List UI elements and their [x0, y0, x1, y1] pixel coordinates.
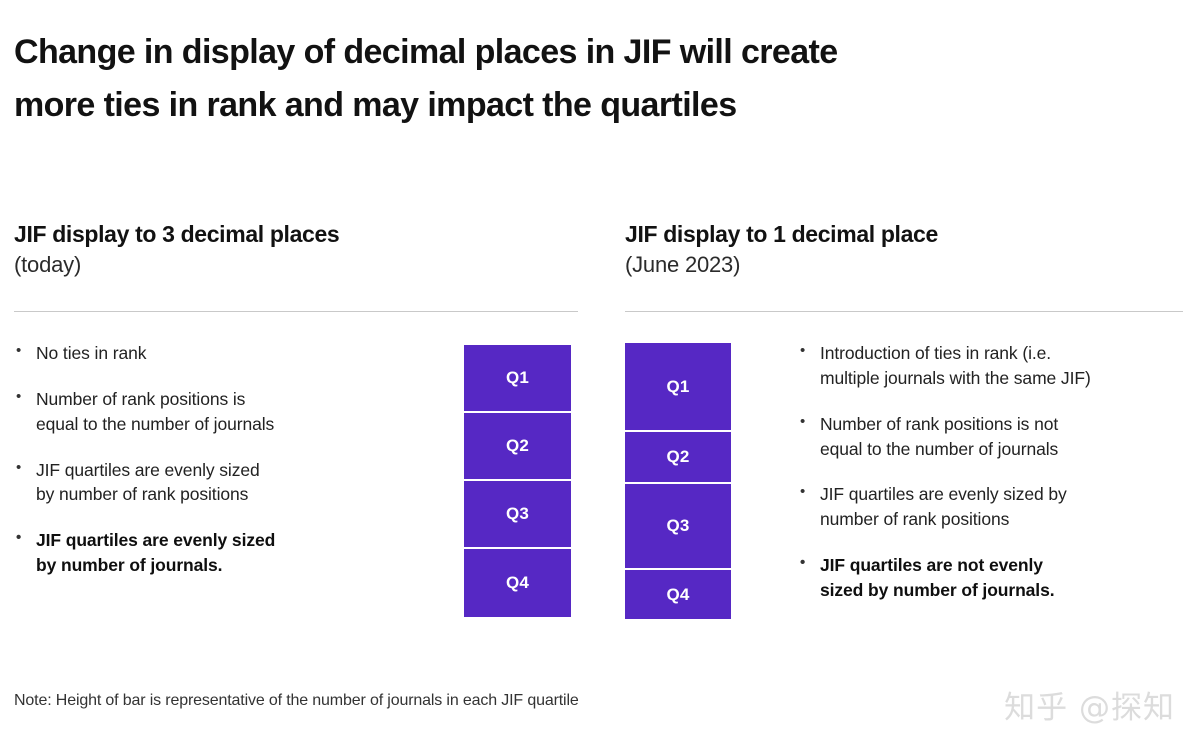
- page-title-line-2: more ties in rank and may impact the qua…: [14, 79, 1024, 132]
- list-item-line: Introduction of ties in rank (i.e.: [820, 341, 1183, 366]
- quartile-segment-q4: Q4: [464, 549, 571, 617]
- quartile-segment-label: Q2: [666, 447, 689, 467]
- list-item: JIF quartiles are evenly sizedby number …: [14, 528, 434, 578]
- left-column-heading: JIF display to 3 decimal places: [14, 220, 578, 249]
- list-item-line: by number of rank positions: [36, 482, 434, 507]
- right-column-divider: [625, 311, 1183, 312]
- list-item-line: multiple journals with the same JIF): [820, 366, 1183, 391]
- quartile-segment-q2: Q2: [625, 432, 731, 484]
- quartile-bar-1-decimal: Q1Q2Q3Q4: [625, 343, 731, 619]
- quartile-segment-label: Q1: [666, 377, 689, 397]
- list-item-line: JIF quartiles are evenly sized: [36, 528, 434, 553]
- quartile-segment-q1: Q1: [625, 343, 731, 432]
- list-item: JIF quartiles are evenly sized bynumber …: [798, 482, 1183, 532]
- right-column-heading: JIF display to 1 decimal place: [625, 220, 1183, 249]
- quartile-segment-label: Q1: [506, 368, 529, 388]
- list-item: No ties in rank: [14, 341, 434, 366]
- list-item: JIF quartiles are not evenlysized by num…: [798, 553, 1183, 603]
- quartile-segment-label: Q2: [506, 436, 529, 456]
- quartile-segment-q1: Q1: [464, 345, 571, 413]
- list-item-line: number of rank positions: [820, 507, 1183, 532]
- right-column-subheading: (June 2023): [625, 251, 1183, 280]
- list-item: Number of rank positions is notequal to …: [798, 412, 1183, 462]
- quartile-segment-label: Q3: [506, 504, 529, 524]
- quartile-segment-q4: Q4: [625, 570, 731, 619]
- quartile-segment-label: Q4: [506, 573, 529, 593]
- list-item: Number of rank positions isequal to the …: [14, 387, 434, 437]
- list-item-line: equal to the number of journals: [820, 437, 1183, 462]
- quartile-segment-label: Q3: [666, 516, 689, 536]
- list-item-line: by number of journals.: [36, 553, 434, 578]
- list-item-line: JIF quartiles are evenly sized by: [820, 482, 1183, 507]
- quartile-segment-q3: Q3: [625, 484, 731, 570]
- left-column-subheading: (today): [14, 251, 578, 280]
- list-item-line: Number of rank positions is not: [820, 412, 1183, 437]
- page-title-line-1: Change in display of decimal places in J…: [14, 26, 1024, 79]
- right-column-header: JIF display to 1 decimal place (June 202…: [625, 220, 1183, 312]
- list-item-line: Number of rank positions is: [36, 387, 434, 412]
- left-column-divider: [14, 311, 578, 312]
- quartile-segment-label: Q4: [666, 585, 689, 605]
- right-bullet-list: Introduction of ties in rank (i.e.multip…: [798, 341, 1183, 603]
- quartile-bar-3-decimals: Q1Q2Q3Q4: [464, 345, 571, 617]
- left-bullet-list: No ties in rankNumber of rank positions …: [14, 341, 434, 578]
- watermark: 知乎 @探知: [1004, 682, 1175, 727]
- list-item-line: JIF quartiles are not evenly: [820, 553, 1183, 578]
- left-column-header: JIF display to 3 decimal places (today): [14, 220, 578, 312]
- page-title: Change in display of decimal places in J…: [14, 26, 1024, 131]
- list-item-line: sized by number of journals.: [820, 578, 1183, 603]
- quartile-segment-q3: Q3: [464, 481, 571, 549]
- list-item-line: JIF quartiles are evenly sized: [36, 458, 434, 483]
- list-item: Introduction of ties in rank (i.e.multip…: [798, 341, 1183, 391]
- footer-note: Note: Height of bar is representative of…: [14, 692, 579, 710]
- list-item-line: No ties in rank: [36, 341, 434, 366]
- quartile-segment-q2: Q2: [464, 413, 571, 481]
- list-item-line: equal to the number of journals: [36, 412, 434, 437]
- list-item: JIF quartiles are evenly sizedby number …: [14, 458, 434, 508]
